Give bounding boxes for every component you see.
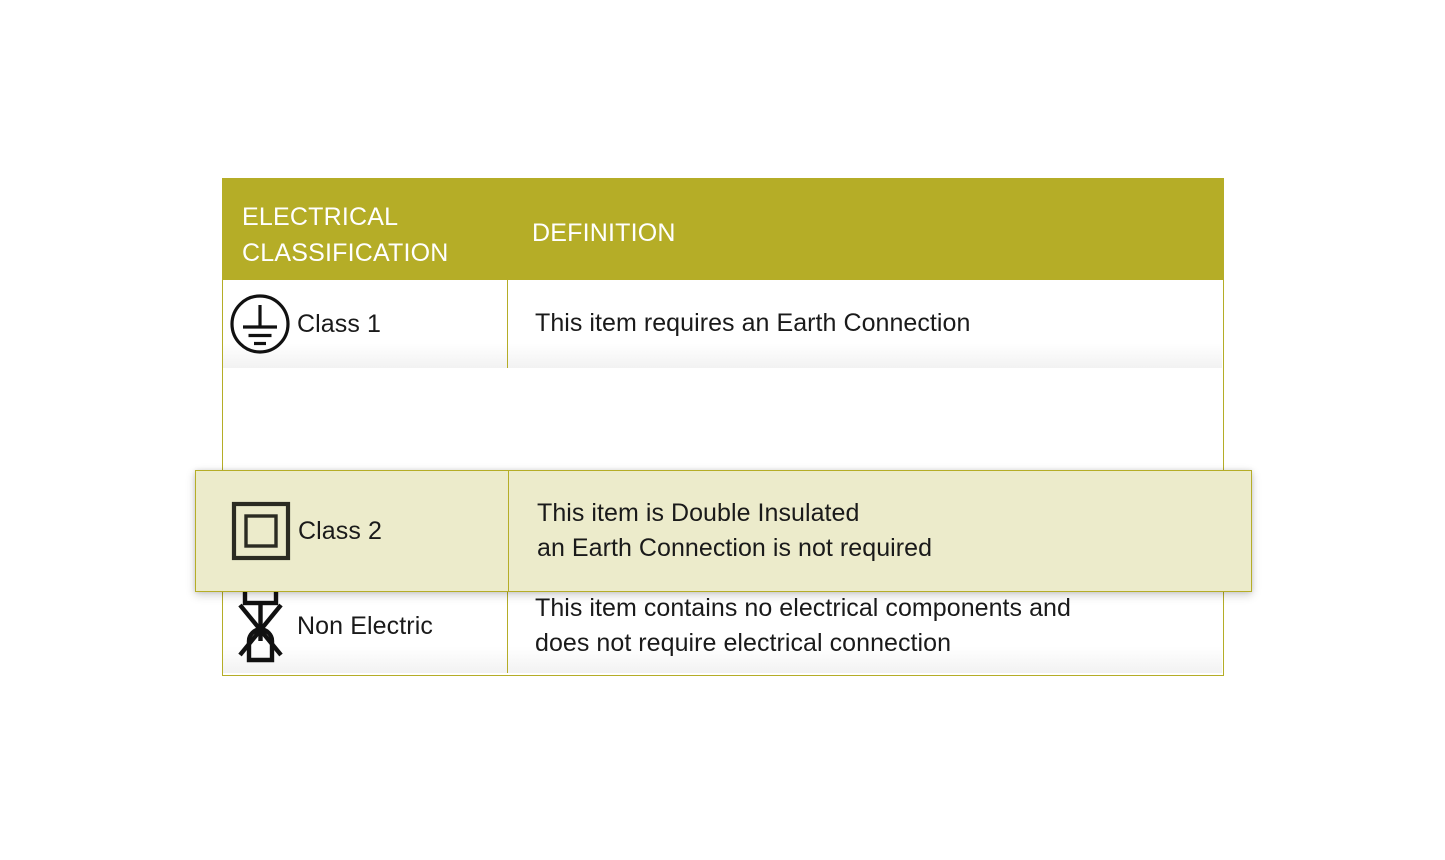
table-row-highlighted[interactable]: Class 2 This item is Double Insulated an…	[195, 470, 1252, 592]
cell-classification: Class 2	[196, 471, 509, 591]
column-header-electrical-classification: ELECTRICAL CLASSIFICATION	[242, 199, 502, 272]
cell-classification: Class 1	[223, 280, 508, 368]
table-body: Class 1 This item requires an Earth Conn…	[222, 280, 1224, 676]
cell-definition: This item contains no electrical compone…	[508, 579, 1222, 673]
classification-label: Class 2	[298, 517, 382, 546]
electrical-classification-table: ELECTRICAL CLASSIFICATION DEFINITION	[222, 178, 1224, 676]
definition-text: This item contains no electrical compone…	[535, 591, 1071, 662]
non-electric-crossed-icon	[223, 585, 297, 667]
table-row[interactable]: Non Electric This item contains no elect…	[223, 578, 1222, 673]
cell-definition: This item is Double Insulated an Earth C…	[509, 471, 1251, 591]
cell-classification: Non Electric	[223, 579, 508, 673]
classification-label: Non Electric	[297, 612, 433, 641]
definition-text: This item requires an Earth Connection	[535, 306, 970, 342]
slide-canvas: ELECTRICAL CLASSIFICATION DEFINITION	[0, 0, 1445, 860]
classification-label: Class 1	[297, 310, 381, 339]
table-row[interactable]: Class 1 This item requires an Earth Conn…	[223, 280, 1222, 368]
earth-ground-icon	[223, 293, 297, 355]
definition-text: This item is Double Insulated an Earth C…	[537, 496, 932, 567]
column-header-definition: DEFINITION	[532, 215, 952, 251]
cell-definition: This item requires an Earth Connection	[508, 280, 1222, 368]
double-insulated-square-icon	[224, 501, 298, 561]
table-header-row: ELECTRICAL CLASSIFICATION DEFINITION	[222, 178, 1224, 280]
